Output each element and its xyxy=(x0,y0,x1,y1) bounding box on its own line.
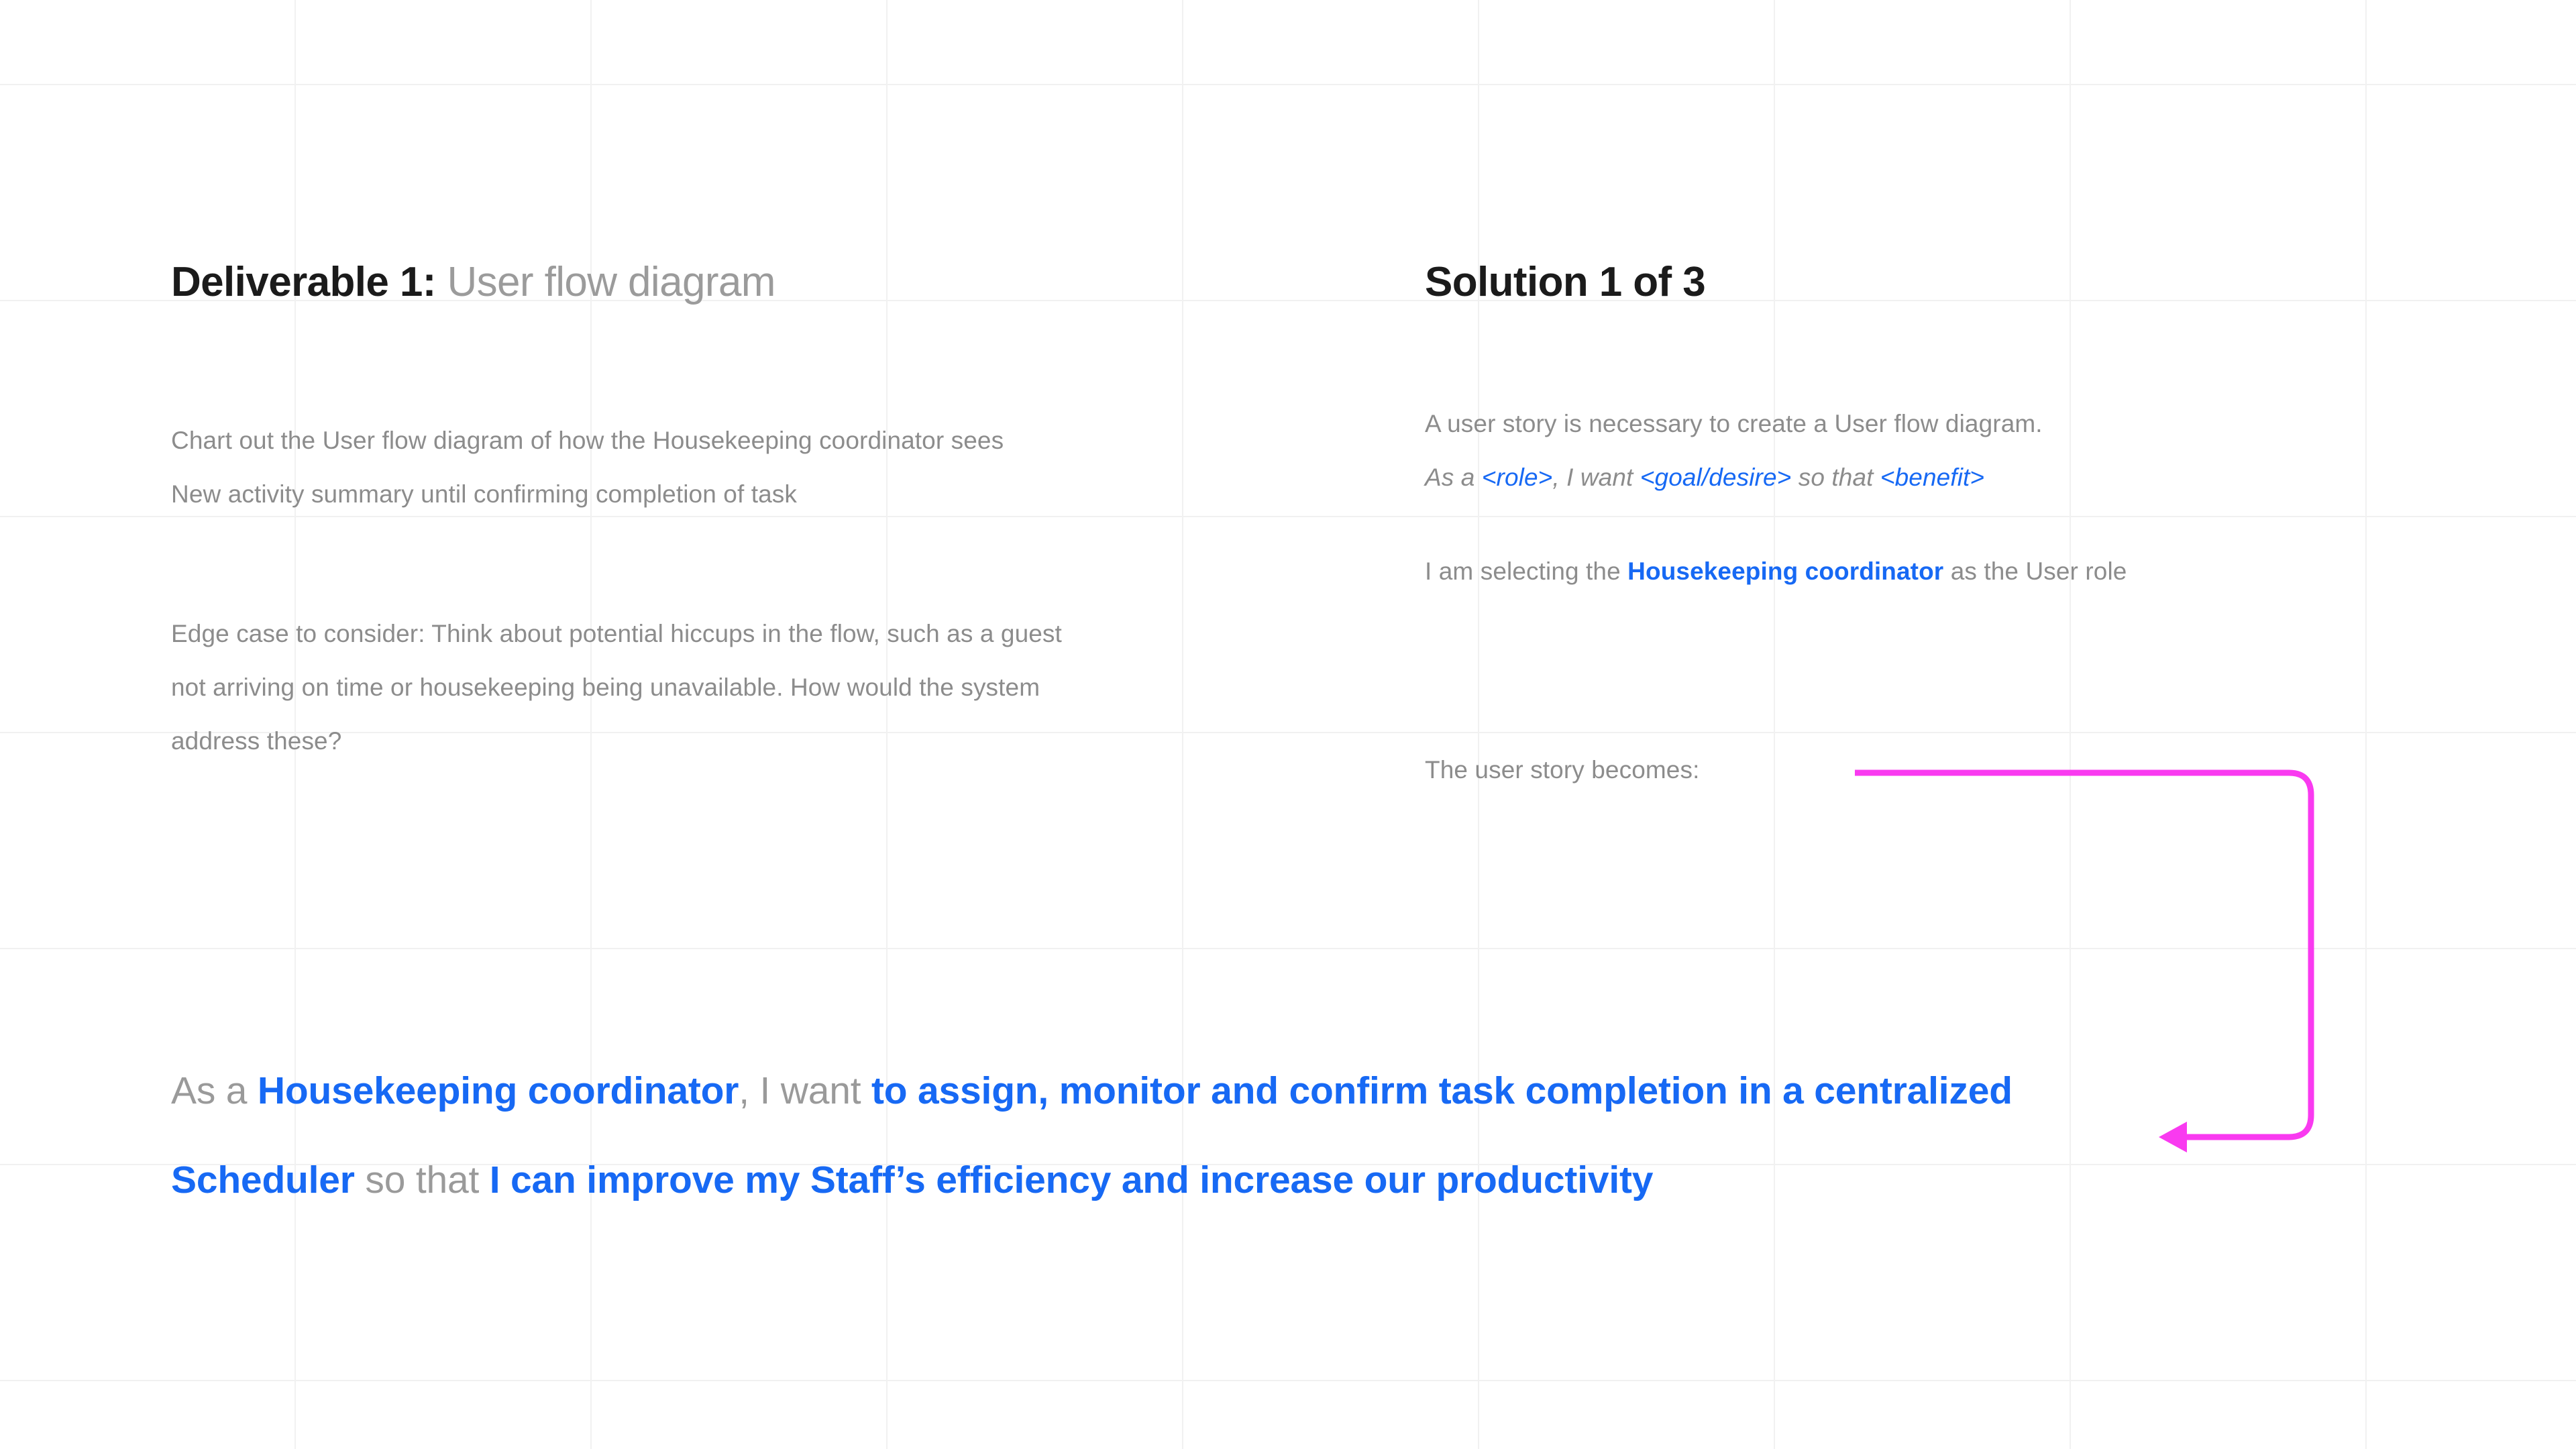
slide-canvas: Deliverable 1: User flow diagram Chart o… xyxy=(0,0,2576,1449)
deliverable-heading-light: User flow diagram xyxy=(436,259,775,305)
final-story-role: Housekeeping coordinator xyxy=(258,1069,739,1112)
template-part-1: As a xyxy=(1425,464,1482,491)
deliverable-heading-strong: Deliverable 1: xyxy=(171,259,436,305)
user-story-becomes-label: The user story becomes: xyxy=(1425,743,2029,797)
role-selection-part-2: as the User role xyxy=(1943,557,2127,585)
template-part-3: so that xyxy=(1791,464,1880,491)
final-story-part-1: As a xyxy=(171,1069,258,1112)
solution-intro-text: A user story is necessary to create a Us… xyxy=(1425,397,2324,451)
deliverable-heading: Deliverable 1: User flow diagram xyxy=(171,258,775,306)
solution-heading: Solution 1 of 3 xyxy=(1425,258,1705,306)
deliverable-edge-case: Edge case to consider: Think about poten… xyxy=(171,607,1097,768)
template-part-2: , I want xyxy=(1552,464,1640,491)
final-story-benefit: I can improve my Staff’s efficiency and … xyxy=(490,1159,1653,1201)
template-placeholder-goal: <goal/desire> xyxy=(1640,464,1792,491)
final-story-part-2: , I want xyxy=(739,1069,871,1112)
role-selection-role: Housekeeping coordinator xyxy=(1627,557,1943,585)
role-selection-part-1: I am selecting the xyxy=(1425,557,1627,585)
deliverable-description: Chart out the User flow diagram of how t… xyxy=(171,414,1043,521)
final-story-part-3: so that xyxy=(355,1159,490,1201)
role-selection-text: I am selecting the Housekeeping coordina… xyxy=(1425,545,2310,598)
arrow-left-icon xyxy=(2159,1122,2187,1152)
template-placeholder-benefit: <benefit> xyxy=(1880,464,1984,491)
user-story-template: As a <role>, I want <goal/desire> so tha… xyxy=(1425,451,2324,504)
final-user-story: As a Housekeeping coordinator, I want to… xyxy=(171,1046,2157,1225)
template-placeholder-role: <role> xyxy=(1482,464,1553,491)
